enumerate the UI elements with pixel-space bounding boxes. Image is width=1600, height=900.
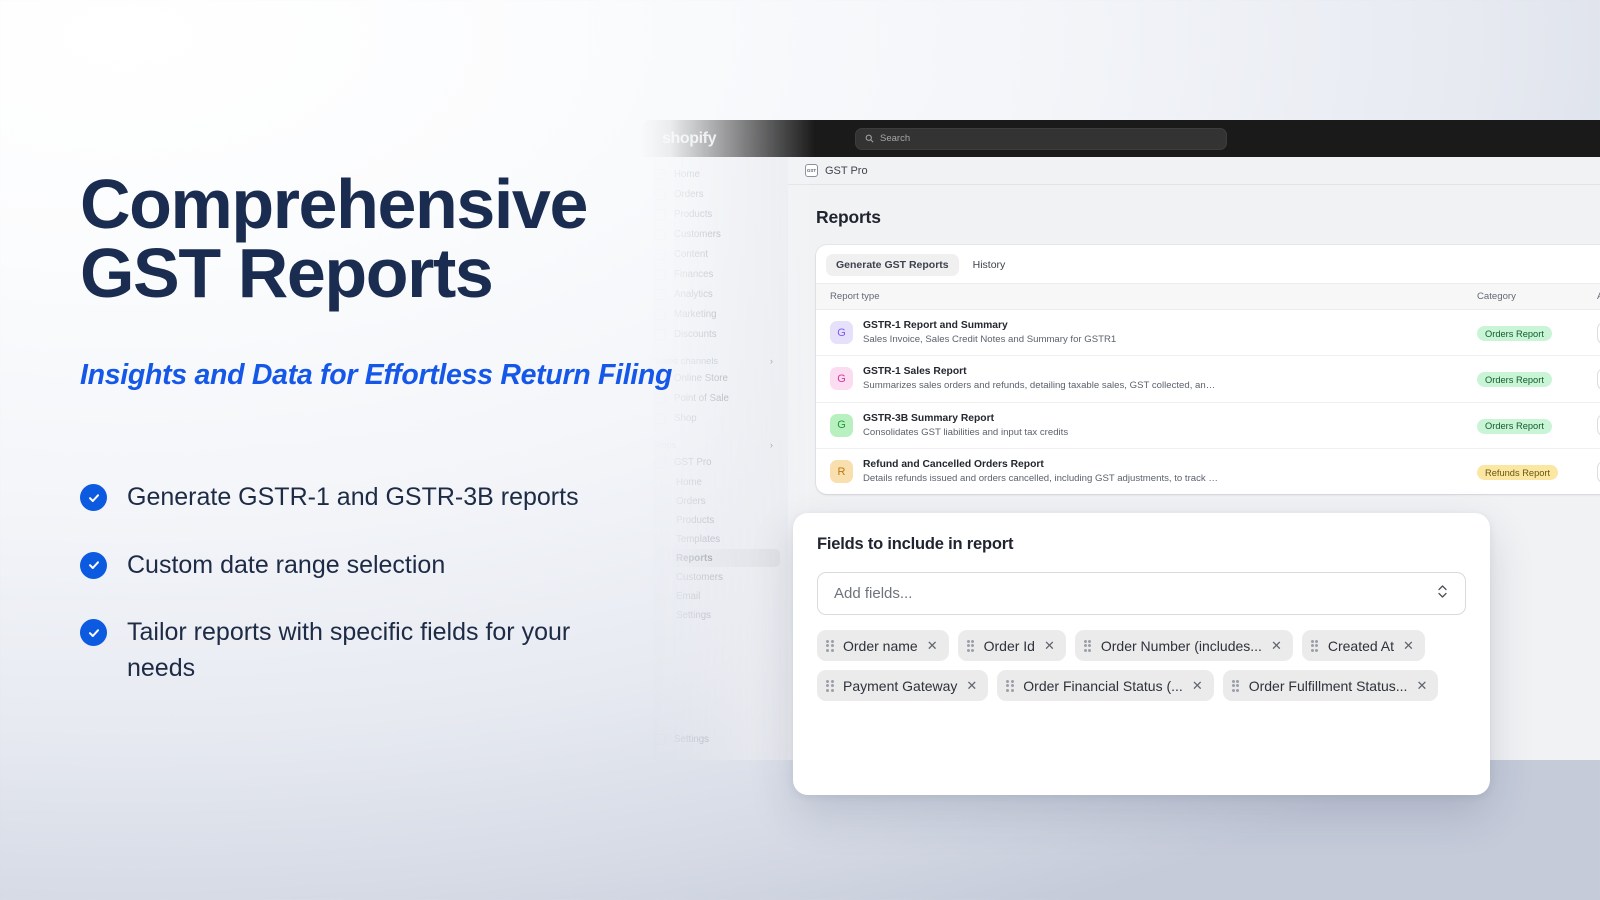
status-badge: Orders Report — [1477, 372, 1552, 387]
list-item: Generate GSTR-1 and GSTR-3B reports — [80, 480, 760, 516]
field-chip-label: Order Fulfillment Status... — [1249, 678, 1408, 694]
field-chip-payment-gateway[interactable]: Payment Gateway ✕ — [817, 670, 988, 701]
headline-line-1: Comprehensive — [80, 165, 587, 243]
reports-tabs: Generate GST Reports History — [816, 245, 1600, 283]
sidebar-item-settings[interactable]: Settings — [648, 730, 780, 749]
report-description: Summarizes sales orders and refunds, det… — [863, 379, 1218, 392]
table-header-row: Report type Category Actions — [816, 284, 1600, 310]
column-header-category: Category — [1477, 284, 1597, 310]
column-header-report-type: Report type — [816, 284, 1477, 310]
page-title: Comprehensive GST Reports — [80, 170, 760, 307]
drag-handle-icon[interactable] — [1084, 640, 1092, 652]
field-chip-order-fulfillment-status[interactable]: Order Fulfillment Status... ✕ — [1223, 670, 1439, 701]
search-input[interactable]: Search — [855, 128, 1227, 150]
report-name: GSTR-3B Summary Report — [863, 412, 1068, 426]
app-title: GST Pro — [825, 165, 868, 177]
gst-pro-icon: GST — [805, 164, 818, 177]
tab-history[interactable]: History — [963, 254, 1016, 276]
report-avatar: G — [830, 321, 853, 344]
report-avatar-initial: R — [838, 466, 846, 478]
table-row[interactable]: G GSTR-1 Report and Summary Sales Invoic… — [816, 310, 1600, 356]
report-description: Details refunds issued and orders cancel… — [863, 472, 1218, 485]
feature-label: Generate GSTR-1 and GSTR-3B reports — [127, 480, 579, 516]
report-name: GSTR-1 Report and Summary — [863, 319, 1116, 333]
field-chip-order-id[interactable]: Order Id ✕ — [958, 630, 1066, 661]
field-chip-order-number[interactable]: Order Number (includes... ✕ — [1075, 630, 1293, 661]
drag-handle-icon[interactable] — [1006, 680, 1014, 692]
cell-category: Orders Report — [1477, 356, 1597, 402]
gear-icon — [655, 734, 666, 745]
status-badge: Refunds Report — [1477, 465, 1558, 480]
reports-title: Reports — [816, 207, 881, 228]
cell-report-type: G GSTR-1 Sales Report Summarizes sales o… — [816, 356, 1477, 402]
reports-table: Report type Category Actions — [816, 283, 1600, 494]
status-badge: Orders Report — [1477, 326, 1552, 341]
cell-category: Orders Report — [1477, 402, 1597, 448]
field-chip-label: Order Id — [984, 638, 1035, 654]
report-avatar-initial: G — [837, 327, 846, 339]
field-chip-order-name[interactable]: Order name ✕ — [817, 630, 949, 661]
chevron-right-icon: › — [770, 440, 773, 450]
app-frame-header: GST GST Pro — [788, 157, 1600, 185]
field-chip-label: Order Number (includes... — [1101, 638, 1262, 654]
field-chip-created-at[interactable]: Created At ✕ — [1302, 630, 1425, 661]
sidebar-footer: Settings — [648, 730, 780, 750]
search-icon — [865, 134, 874, 143]
check-circle-icon — [80, 484, 107, 511]
feature-label: Custom date range selection — [127, 548, 445, 584]
reports-page-header: Reports New Report Type — [816, 205, 1600, 229]
table-row[interactable]: R Refund and Cancelled Orders Report Det… — [816, 448, 1600, 494]
chevron-right-icon: › — [770, 356, 773, 366]
sidebar-item-label: Settings — [674, 734, 709, 745]
remove-chip-icon[interactable]: ✕ — [1271, 639, 1282, 652]
remove-chip-icon[interactable]: ✕ — [1192, 679, 1203, 692]
report-avatar: G — [830, 414, 853, 437]
global-topbar: shopify Search — [640, 120, 1600, 157]
fields-panel-title: Fields to include in report — [817, 535, 1466, 554]
check-circle-icon — [80, 619, 107, 646]
search-container[interactable]: Search — [855, 128, 1227, 150]
drag-handle-icon[interactable] — [1232, 680, 1240, 692]
shopify-logo: shopify — [662, 130, 716, 148]
fields-to-include-panel: Fields to include in report Add fields..… — [793, 513, 1490, 795]
marketing-panel: Comprehensive GST Reports Insights and D… — [80, 170, 760, 718]
cell-report-type: R Refund and Cancelled Orders Report Det… — [816, 448, 1477, 494]
remove-chip-icon[interactable]: ✕ — [927, 639, 938, 652]
field-chip-order-financial-status[interactable]: Order Financial Status (... ✕ — [997, 670, 1213, 701]
chevron-updown-icon — [1436, 582, 1449, 606]
drag-handle-icon[interactable] — [826, 680, 834, 692]
remove-chip-icon[interactable]: ✕ — [1044, 639, 1055, 652]
status-badge: Orders Report — [1477, 419, 1552, 434]
cell-category: Orders Report — [1477, 310, 1597, 356]
field-chip-label: Payment Gateway — [843, 678, 957, 694]
field-chip-label: Order Financial Status (... — [1023, 678, 1183, 694]
cell-category: Refunds Report — [1477, 448, 1597, 494]
report-avatar: R — [830, 460, 853, 483]
subheadline: Insights and Data for Effortless Return … — [80, 359, 760, 392]
report-description: Sales Invoice, Sales Credit Notes and Su… — [863, 333, 1116, 346]
field-chip-label: Order name — [843, 638, 918, 654]
reports-page: Reports New Report Type Generate GST Rep… — [788, 185, 1600, 494]
remove-chip-icon[interactable]: ✕ — [1403, 639, 1414, 652]
table-row[interactable]: G GSTR-3B Summary Report Consolidates GS… — [816, 402, 1600, 448]
report-description: Consolidates GST liabilities and input t… — [863, 426, 1068, 439]
report-name: GSTR-1 Sales Report — [863, 365, 1218, 379]
list-item: Tailor reports with specific fields for … — [80, 615, 760, 686]
add-fields-select[interactable]: Add fields... — [817, 572, 1466, 615]
remove-chip-icon[interactable]: ✕ — [966, 679, 977, 692]
remove-chip-icon[interactable]: ✕ — [1416, 679, 1427, 692]
add-fields-placeholder: Add fields... — [834, 585, 912, 602]
headline-line-2: GST Reports — [80, 234, 492, 312]
report-name: Refund and Cancelled Orders Report — [863, 458, 1218, 472]
check-circle-icon — [80, 552, 107, 579]
cell-report-type: G GSTR-3B Summary Report Consolidates GS… — [816, 402, 1477, 448]
report-avatar: G — [830, 367, 853, 390]
tab-generate-gst-reports[interactable]: Generate GST Reports — [826, 254, 959, 276]
field-chip-label: Created At — [1328, 638, 1394, 654]
drag-handle-icon[interactable] — [967, 640, 975, 652]
feature-label: Tailor reports with specific fields for … — [127, 615, 597, 686]
list-item: Custom date range selection — [80, 548, 760, 584]
drag-handle-icon[interactable] — [826, 640, 834, 652]
report-avatar-initial: G — [837, 419, 846, 431]
drag-handle-icon[interactable] — [1311, 640, 1319, 652]
reports-card: Generate GST Reports History Report type… — [816, 245, 1600, 494]
report-avatar-initial: G — [837, 373, 846, 385]
feature-list: Generate GSTR-1 and GSTR-3B reports Cust… — [80, 480, 760, 686]
cell-report-type: G GSTR-1 Report and Summary Sales Invoic… — [816, 310, 1477, 356]
selected-fields-chip-list: Order name ✕ Order Id ✕ Order Number (in… — [817, 630, 1466, 701]
table-row[interactable]: G GSTR-1 Sales Report Summarizes sales o… — [816, 356, 1600, 402]
search-placeholder: Search — [880, 133, 910, 144]
